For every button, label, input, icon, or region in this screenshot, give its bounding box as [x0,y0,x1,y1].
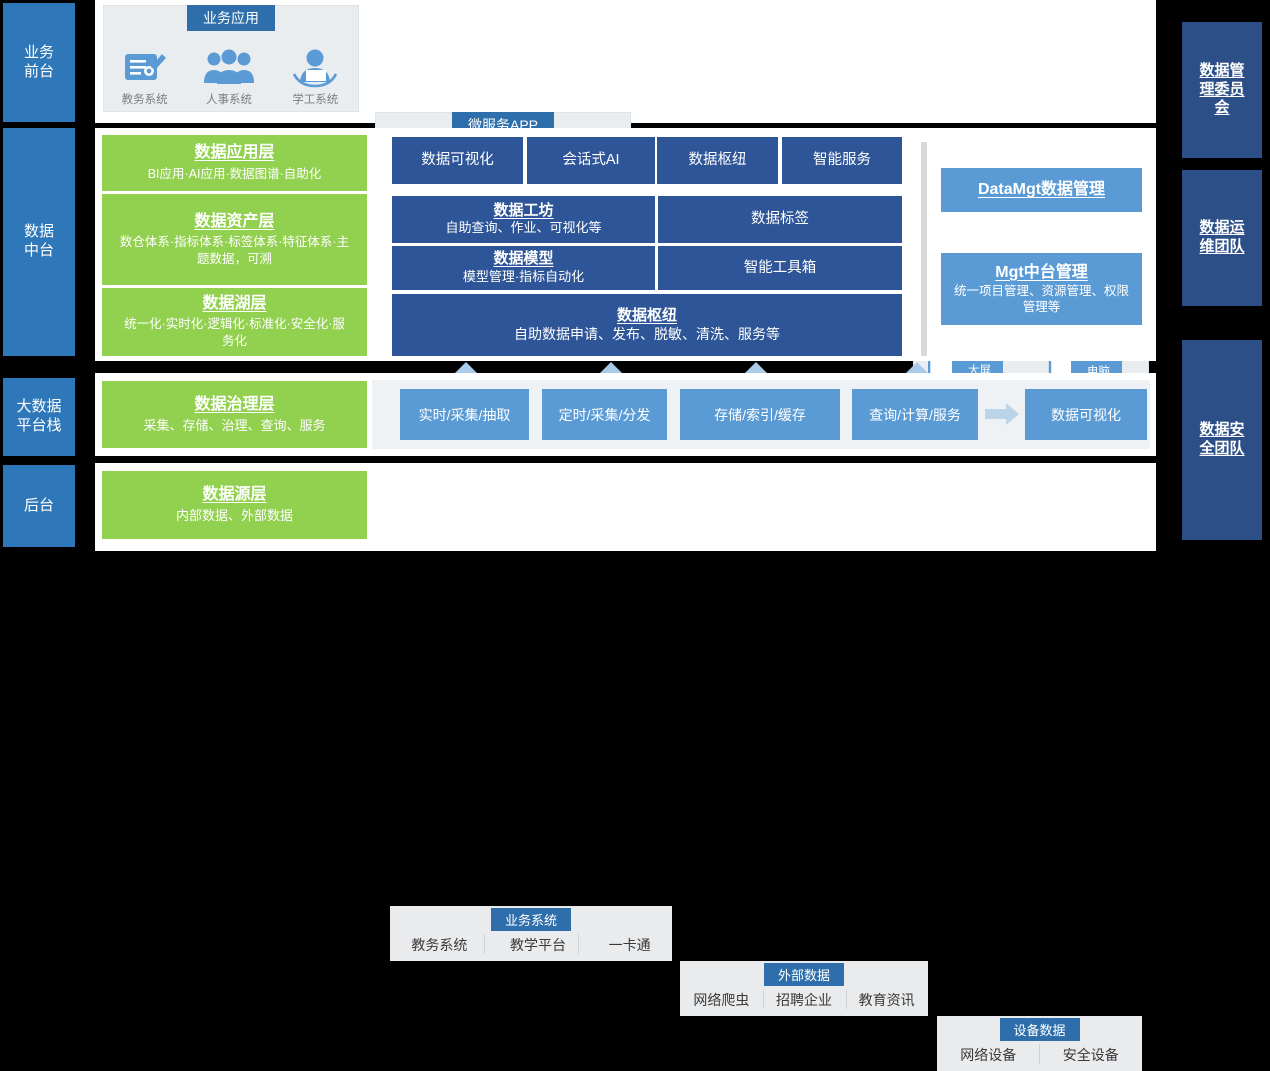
tile-conversational-ai[interactable]: 会话式AI [527,137,655,184]
sidebar-item-label: 业务前台 [24,44,54,82]
pipeline-label: 存储/索引/缓存 [714,405,806,425]
green-box-data-source-layer[interactable]: 数据源层 内部数据、外部数据 [102,471,367,539]
sidebar-item-label: 数据运维团队 [1199,219,1244,257]
icon-cell[interactable]: 人事系统 [203,48,255,107]
source-group-external-data[interactable]: 外部数据 网络爬虫 招聘企业 教育资讯 [680,961,928,1016]
tile-label: 智能服务 [813,151,871,170]
box-title: DataMgt数据管理 [978,180,1105,200]
source-item[interactable]: 招聘企业 [776,990,832,1016]
tile-data-hub-small[interactable]: 数据枢纽 [657,137,778,184]
box-datamgt[interactable]: DataMgt数据管理 [941,168,1142,212]
source-group-device-data[interactable]: 设备数据 网络设备 安全设备 [937,1016,1142,1071]
green-box-data-lake-layer[interactable]: 数据湖层 统一化·实时化·逻辑化·标准化·安全化·服务化 [102,288,367,356]
sidebar-item-label: 数据安全团队 [1199,421,1244,459]
flow-arrow-right [985,403,1019,425]
sidebar-item-label: 后台 [24,497,54,516]
box-data-workshop[interactable]: 数据工坊 自助查询、作业、可视化等 [392,196,655,243]
divider [578,934,579,954]
sidebar-item-business-front[interactable]: 业务前台 [3,3,75,122]
source-group-title: 业务系统 [491,908,571,931]
box-title: 数据枢纽 [617,307,677,326]
layer-title: 数据湖层 [202,294,266,313]
box-title: 数据模型 [493,250,553,269]
layer-subtitle: 数仓体系·指标体系·标签体系·特征体系·主题数据，可溯 [119,234,351,268]
source-group-business-systems[interactable]: 业务系统 教务系统 教学平台 一卡通 [390,906,672,961]
pipeline-data-visualization[interactable]: 数据可视化 [1025,389,1147,440]
card-business-app[interactable]: 业务应用 教务系统 人事系统 [103,5,359,112]
tile-label: 会话式AI [562,151,619,170]
vertical-divider [921,142,927,356]
box-data-hub[interactable]: 数据枢纽 自助数据申请、发布、脱敏、清洗、服务等 [392,294,902,356]
people-group-icon [203,48,255,90]
green-box-data-application-layer[interactable]: 数据应用层 BI应用·AI应用·数据图谱·自助化 [102,135,367,191]
sidebar-item-data-ops-team[interactable]: 数据运维团队 [1182,170,1262,306]
box-title: 数据工坊 [493,202,553,221]
source-item[interactable]: 一卡通 [609,935,651,961]
pipeline-query-compute-service[interactable]: 查询/计算/服务 [852,389,978,440]
pipeline-label: 数据可视化 [1051,405,1121,425]
layer-title: 数据应用层 [194,143,274,162]
source-group-title: 外部数据 [764,963,844,986]
tile-smart-service[interactable]: 智能服务 [782,137,902,184]
divider [763,989,764,1009]
box-subtitle: 统一项目管理、资源管理、权限管理等 [950,283,1134,316]
box-subtitle: 自助数据申请、发布、脱敏、清洗、服务等 [514,325,780,343]
icon-cell[interactable]: 教务系统 [122,48,168,107]
box-data-model[interactable]: 数据模型 模型管理·指标自动化 [392,246,655,290]
layer-title: 数据资产层 [194,212,274,231]
divider [846,989,847,1009]
sidebar-item-label: 数据中台 [24,223,54,261]
icon-cell[interactable]: 学工系统 [290,48,340,107]
source-item[interactable]: 网络设备 [960,1045,1016,1071]
box-subtitle: 自助查询、作业、可视化等 [445,220,601,237]
divider [1039,1044,1040,1064]
box-subtitle: 模型管理·指标自动化 [463,269,584,286]
pipeline-realtime-collect-extract[interactable]: 实时/采集/抽取 [400,389,529,440]
layer-title: 数据源层 [202,485,266,504]
pipeline-label: 定时/采集/分发 [559,405,651,425]
source-item[interactable]: 教学平台 [510,935,566,961]
icon-label: 学工系统 [292,91,338,107]
pipeline-storage-index-cache[interactable]: 存储/索引/缓存 [680,389,840,440]
tile-label: 数据枢纽 [689,151,747,170]
pipeline-label: 实时/采集/抽取 [419,405,511,425]
box-smart-toolbox[interactable]: 智能工具箱 [658,246,902,290]
person-desk-icon [290,48,340,90]
divider [484,934,485,954]
pipeline-label: 查询/计算/服务 [869,405,961,425]
layer-subtitle: BI应用·AI应用·数据图谱·自助化 [148,166,322,183]
source-item[interactable]: 网络爬虫 [693,990,749,1016]
source-item[interactable]: 教务系统 [411,935,467,961]
layer-subtitle: 统一化·实时化·逻辑化·标准化·安全化·服务化 [119,316,351,350]
box-label: 数据标签 [751,210,809,229]
green-box-data-asset-layer[interactable]: 数据资产层 数仓体系·指标体系·标签体系·特征体系·主题数据，可溯 [102,194,367,285]
layer-title: 数据治理层 [194,395,274,414]
sidebar-item-label: 大数据平台栈 [16,398,61,436]
card-icon-row: 教务系统 人事系统 学工系统 [104,48,358,107]
card-title: 业务应用 [187,5,275,31]
box-title: Mgt中台管理 [995,263,1087,283]
icon-label: 教务系统 [122,91,168,107]
layer-subtitle: 采集、存储、治理、查询、服务 [143,417,325,435]
layer-subtitle: 内部数据、外部数据 [176,507,293,525]
source-item[interactable]: 安全设备 [1063,1045,1119,1071]
box-mgt-middle[interactable]: Mgt中台管理 统一项目管理、资源管理、权限管理等 [941,253,1142,325]
icon-label: 人事系统 [206,91,252,107]
box-data-tag[interactable]: 数据标签 [658,196,902,243]
pipeline-scheduled-collect-distribute[interactable]: 定时/采集/分发 [542,389,667,440]
tile-label: 数据可视化 [421,151,494,170]
sidebar-item-bigdata-stack[interactable]: 大数据平台栈 [3,378,75,456]
source-group-title: 设备数据 [999,1018,1079,1041]
sidebar-item-data-governance-committee[interactable]: 数据管理委员会 [1182,22,1262,158]
sidebar-item-data-security-team[interactable]: 数据安全团队 [1182,340,1262,540]
document-pen-icon [122,48,168,90]
sidebar-item-backend[interactable]: 后台 [3,465,75,547]
box-label: 智能工具箱 [744,259,817,278]
sidebar-item-label: 数据管理委员会 [1199,62,1244,118]
green-box-data-governance-layer[interactable]: 数据治理层 采集、存储、治理、查询、服务 [102,381,367,448]
tile-data-visualization[interactable]: 数据可视化 [392,137,523,184]
source-item[interactable]: 教育资讯 [859,990,915,1016]
sidebar-item-data-middle[interactable]: 数据中台 [3,128,75,356]
